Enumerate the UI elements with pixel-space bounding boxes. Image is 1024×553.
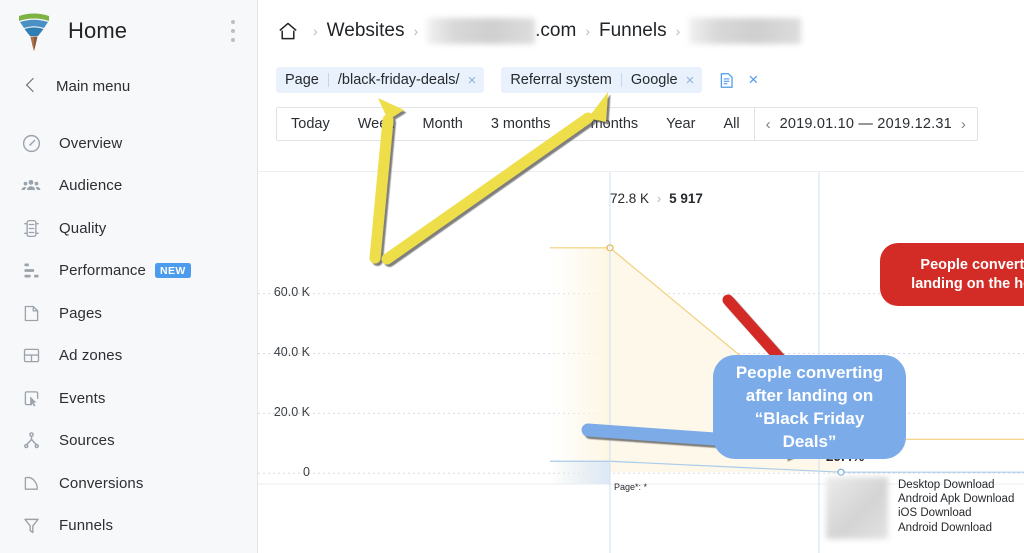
y-tick-label: 60.0 K [250,285,310,299]
range-button-all[interactable]: All [709,108,753,140]
range-button-week[interactable]: Week [344,108,409,140]
breadcrumb-item-funnels[interactable]: Funnels [599,20,667,42]
range-button-today[interactable]: Today [277,108,344,140]
save-document-icon[interactable] [715,69,737,91]
breadcrumb-item-site[interactable]: .com [427,18,576,44]
sidebar-item-label: Ad zones [59,347,122,364]
more-vertical-icon[interactable] [231,20,235,42]
sidebar-item-performance[interactable]: Performance NEW [0,250,257,293]
layout-icon [20,345,42,367]
sidebar-item-label: Events [59,390,105,407]
people-icon [20,175,42,197]
filter-chip-key: Page [276,72,328,88]
sidebar-item-label: Performance [59,262,146,279]
range-button-year[interactable]: Year [652,108,709,140]
filter-chip-referral-system[interactable]: Referral system Google × [501,67,702,93]
sidebar-item-conversions[interactable]: Conversions [0,462,257,505]
redacted-domain [427,18,535,44]
sidebar-item-label: Funnels [59,517,113,534]
funnel-total-separator: › [657,191,662,206]
status-badge: NEW [155,263,191,278]
sidebar-item-sources[interactable]: Sources [0,420,257,463]
clear-filters-icon[interactable]: × [748,70,758,90]
funnel-step-legend: Desktop Download Android Apk Download iO… [826,477,1014,539]
sidebar-item-pages[interactable]: Pages [0,292,257,335]
close-icon[interactable]: × [465,73,485,88]
legend-item: Android Download [898,521,1014,535]
funnel-logo-icon [14,10,54,52]
funnel-chart[interactable]: 60.0 K 40.0 K 20.0 K 0 72.8 K › 5 917 15… [258,171,1024,553]
bar-steps-icon [20,260,42,282]
sidebar-item-label: Audience [59,177,122,194]
y-tick-label: 40.0 K [250,345,310,359]
blurred-thumbnail [826,477,888,539]
chevron-left-icon [22,77,40,95]
filter-chips-row: Page /black-friday-deals/ × Referral sys… [258,62,1024,98]
step-label-page: Page*: * [614,482,647,492]
home-icon[interactable] [276,19,300,43]
legend-item: Android Apk Download [898,492,1014,506]
sidebar-item-label: Quality [59,220,106,237]
cursor-box-icon [20,387,42,409]
close-icon[interactable]: × [683,73,703,88]
funnel-total-from: 72.8 K [610,191,649,206]
app-root: Home Main menu Overview Audience [0,0,1024,553]
y-tick-label: 0 [250,465,310,479]
filter-chip-page[interactable]: Page /black-friday-deals/ × [276,67,484,93]
sidebar-item-events[interactable]: Events [0,377,257,420]
breadcrumb-item-websites[interactable]: Websites [327,20,405,42]
filter-chip-value: /black-friday-deals/ [329,72,465,88]
range-button-3-months[interactable]: 3 months [477,108,565,140]
filter-chip-value: Google [622,72,683,88]
sidebar: Home Main menu Overview Audience [0,0,258,553]
sidebar-nav: Overview Audience Quality Performance [0,122,257,547]
sources-tree-icon [20,430,42,452]
date-range-display: ‹ 2019.01.10 — 2019.12.31 › [754,108,977,140]
sidebar-item-funnels[interactable]: Funnels [0,505,257,548]
funnel-total-to: 5 917 [669,191,703,206]
main-menu-label: Main menu [56,78,130,95]
traffic-light-icon [20,217,42,239]
sidebar-brand[interactable]: Home [0,0,257,62]
breadcrumb-separator: › [676,23,681,39]
legend-entries: Desktop Download Android Apk Download iO… [898,477,1014,539]
breadcrumb-separator: › [413,23,418,39]
funnel-icon [20,515,42,537]
breadcrumb-separator: › [313,23,318,39]
conversions-icon [20,472,42,494]
date-range-toolbar: Today Week Month 3 months 6 months Year … [276,107,978,141]
gauge-icon [20,132,42,154]
date-range-toolbar-row: Today Week Month 3 months 6 months Year … [258,107,1024,141]
sidebar-item-main-menu[interactable]: Main menu [0,64,257,108]
breadcrumb: › Websites › .com › Funnels › [258,0,1024,62]
sidebar-title: Home [68,18,127,44]
sidebar-item-audience[interactable]: Audience [0,165,257,208]
legend-item: Desktop Download [898,478,1014,492]
sidebar-item-quality[interactable]: Quality [0,207,257,250]
sidebar-item-label: Sources [59,432,115,449]
y-tick-label: 20.0 K [250,405,310,419]
chevron-right-icon[interactable]: › [961,116,966,133]
range-button-6-months[interactable]: 6 months [564,108,652,140]
page-icon [20,302,42,324]
sidebar-item-overview[interactable]: Overview [0,122,257,165]
callout-home-page: People converting after landing on the h… [880,243,1024,306]
legend-item: iOS Download [898,506,1014,520]
main-panel: › Websites › .com › Funnels › Page /blac… [258,0,1024,553]
callout-black-friday: People converting after landing on “Blac… [713,355,906,459]
sidebar-item-label: Overview [59,135,122,152]
sidebar-item-label: Conversions [59,475,143,492]
breadcrumb-item-redacted[interactable] [689,18,801,44]
chevron-left-icon[interactable]: ‹ [766,116,771,133]
range-button-month[interactable]: Month [409,108,477,140]
sidebar-item-ad-zones[interactable]: Ad zones [0,335,257,378]
filter-chip-key: Referral system [501,72,621,88]
breadcrumb-separator: › [585,23,590,39]
funnel-total-readout: 72.8 K › 5 917 [610,191,703,206]
sidebar-item-label: Pages [59,305,102,322]
date-range-text: 2019.01.10 — 2019.12.31 [780,116,952,132]
